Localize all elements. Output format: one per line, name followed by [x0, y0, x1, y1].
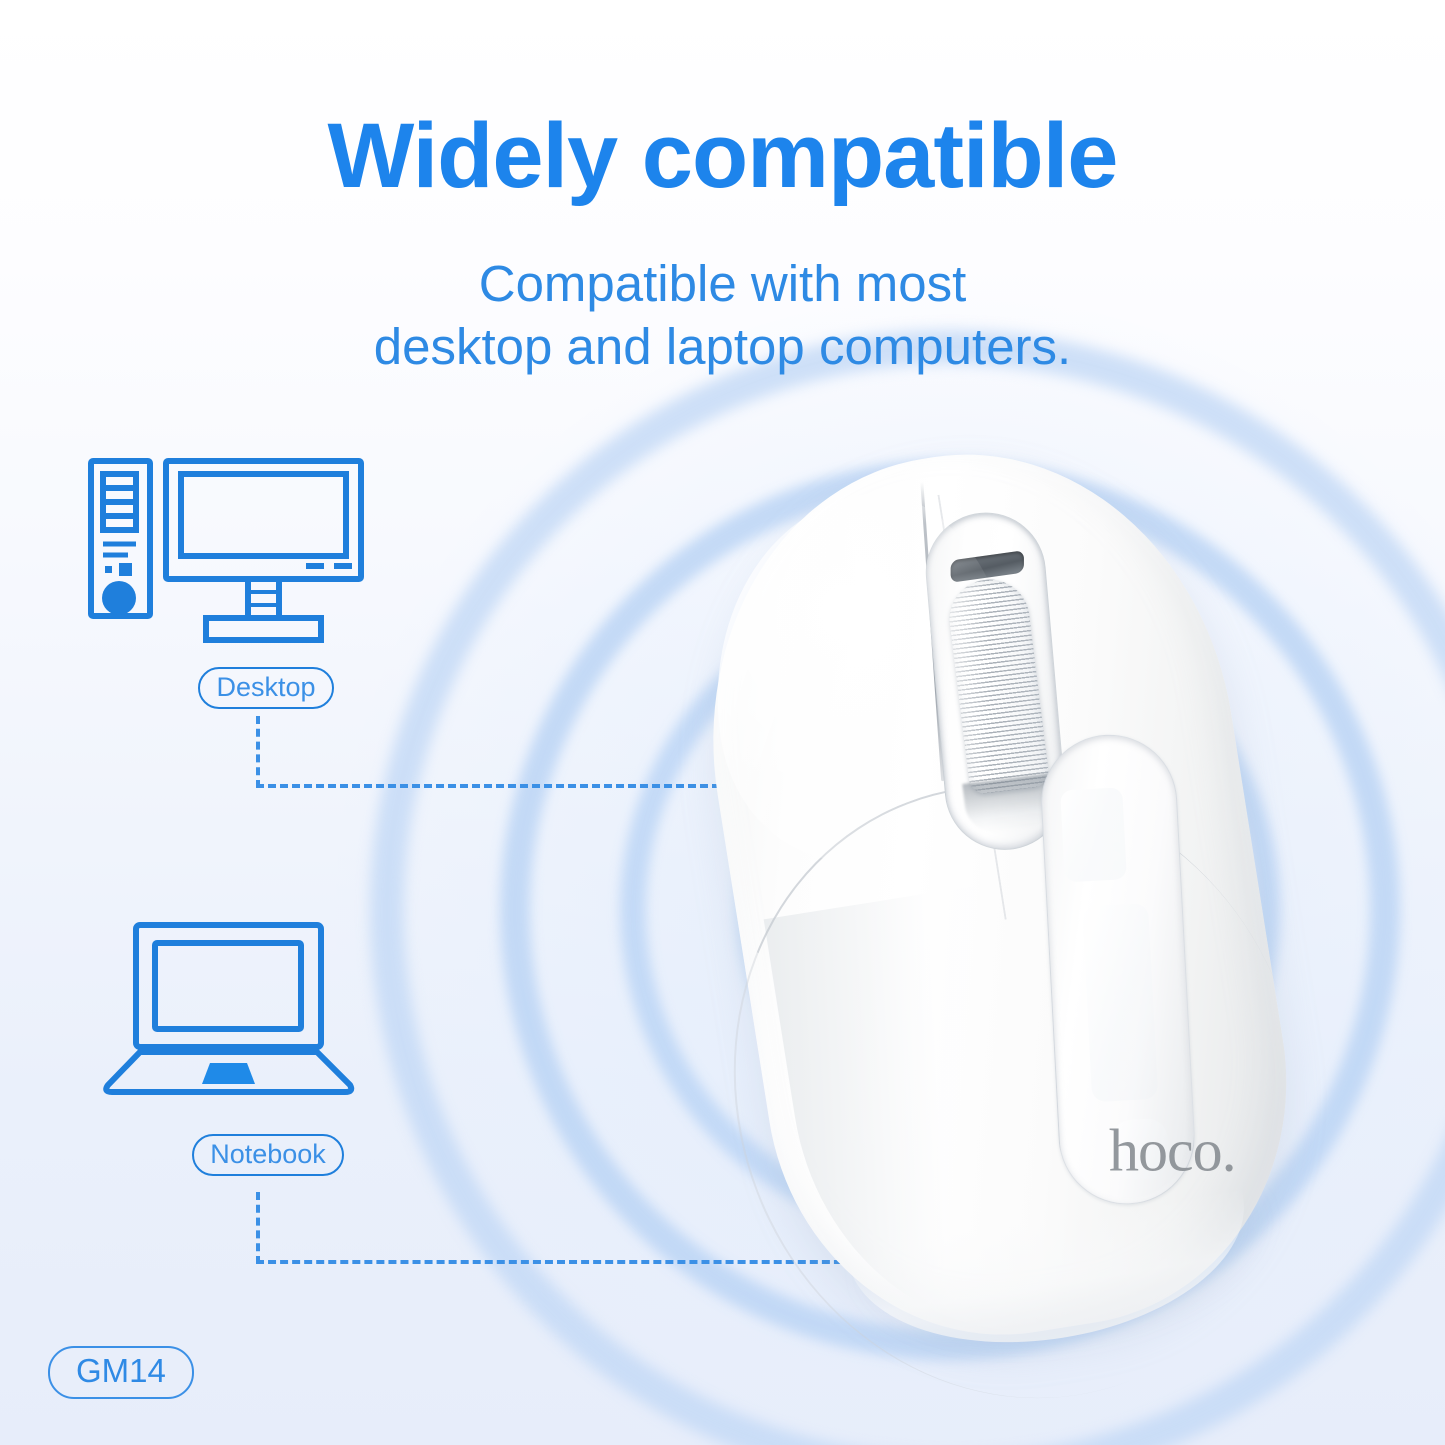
desktop-connector	[256, 716, 756, 788]
notebook-connector-vertical	[256, 1192, 260, 1264]
notebook-label-pill: Notebook	[192, 1134, 344, 1176]
wireless-mouse-product: hoco.	[671, 417, 1325, 1387]
desktop-computer-icon	[88, 448, 378, 653]
mouse-right-button-highlight-1	[1060, 787, 1127, 882]
device-desktop: Desktop	[88, 448, 438, 709]
desktop-label-pill: Desktop	[198, 667, 333, 709]
subtitle-line-1: Compatible with most	[0, 252, 1445, 315]
device-notebook: Notebook	[98, 915, 438, 1176]
mouse-right-button-highlight-2	[1082, 903, 1158, 1102]
mouse-scroll-wheel	[945, 575, 1050, 795]
brand-logo: hoco.	[1109, 1116, 1236, 1185]
product-marketing-image: Widely compatible Compatible with most d…	[0, 0, 1445, 1445]
notebook-connector-horizontal	[256, 1260, 866, 1264]
subtitle-line-2: desktop and laptop computers.	[0, 315, 1445, 378]
mouse-dpi-slot	[951, 550, 1024, 583]
notebook-laptop-icon	[98, 915, 383, 1120]
page-title: Widely compatible	[0, 104, 1445, 209]
page-subtitle: Compatible with most desktop and laptop …	[0, 252, 1445, 378]
notebook-label-row: Notebook	[98, 1134, 438, 1176]
model-badge: GM14	[48, 1346, 194, 1399]
desktop-label-row: Desktop	[88, 667, 438, 709]
desktop-connector-horizontal	[256, 784, 756, 788]
desktop-connector-vertical	[256, 716, 260, 788]
